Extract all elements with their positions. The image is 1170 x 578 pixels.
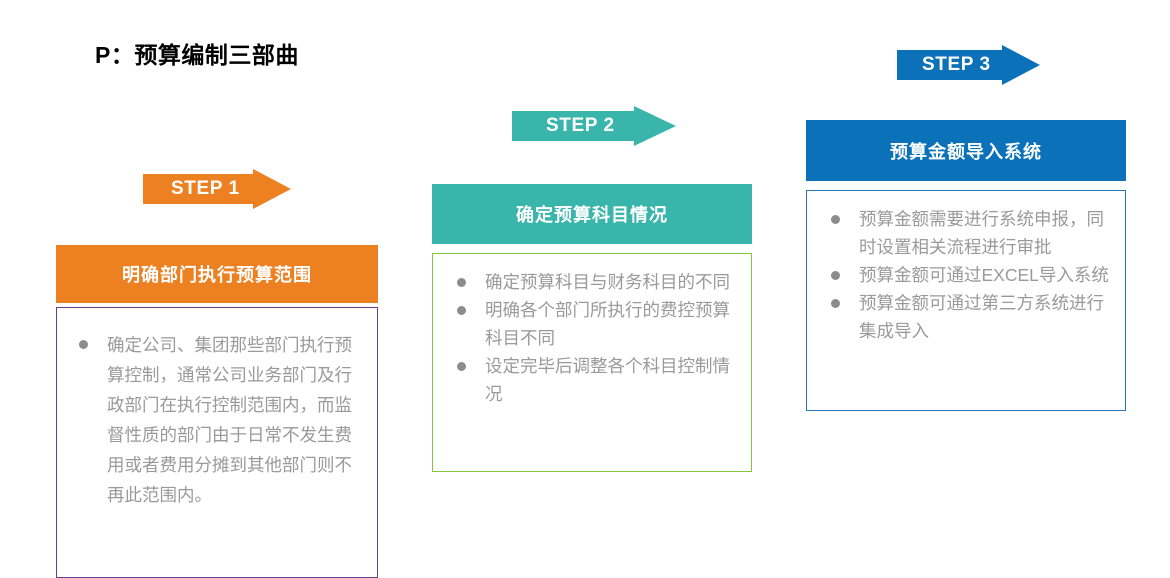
step-3-bullet-list: 预算金额需要进行系统申报，同时设置相关流程进行审批 预算金额可通过EXCEL导入… <box>807 191 1125 345</box>
bullet-dot-icon <box>457 278 466 287</box>
step-1-body: 确定公司、集团那些部门执行预算控制，通常公司业务部门及行政部门在执行控制范围内，… <box>56 307 378 578</box>
bullet-dot-icon <box>831 271 840 280</box>
list-item-text: 预算金额需要进行系统申报，同时设置相关流程进行审批 <box>859 205 1111 261</box>
list-item-text: 预算金额可通过第三方系统进行集成导入 <box>859 289 1111 345</box>
step-2-body: 确定预算科目与财务科目的不同 明确各个部门所执行的费控预算科目不同 设定完毕后调… <box>432 253 752 472</box>
slide-canvas: P：预算编制三部曲 STEP 1 明确部门执行预算范围 确定公司、集团那些部门执… <box>0 0 1170 561</box>
step-2-bullet-list: 确定预算科目与财务科目的不同 明确各个部门所执行的费控预算科目不同 设定完毕后调… <box>433 254 751 408</box>
list-item-text: 确定公司、集团那些部门执行预算控制，通常公司业务部门及行政部门在执行控制范围内，… <box>107 330 361 510</box>
list-item: 确定公司、集团那些部门执行预算控制，通常公司业务部门及行政部门在执行控制范围内，… <box>65 330 361 510</box>
step-1-arrow: STEP 1 <box>143 169 291 209</box>
list-item-text: 明确各个部门所执行的费控预算科目不同 <box>485 296 737 352</box>
arrow-right-icon <box>143 169 291 209</box>
bullet-dot-icon <box>457 306 466 315</box>
list-item: 设定完毕后调整各个科目控制情况 <box>443 352 737 408</box>
step-3-body: 预算金额需要进行系统申报，同时设置相关流程进行审批 预算金额可通过EXCEL导入… <box>806 190 1126 411</box>
list-item: 确定预算科目与财务科目的不同 <box>443 268 737 296</box>
list-item: 预算金额可通过第三方系统进行集成导入 <box>817 289 1111 345</box>
step-2-header: 确定预算科目情况 <box>432 184 752 244</box>
step-1-bullet-list: 确定公司、集团那些部门执行预算控制，通常公司业务部门及行政部门在执行控制范围内，… <box>57 308 377 510</box>
list-item: 预算金额需要进行系统申报，同时设置相关流程进行审批 <box>817 205 1111 261</box>
page-title: P：预算编制三部曲 <box>95 36 299 70</box>
step-1-header: 明确部门执行预算范围 <box>56 245 378 303</box>
list-item-text: 预算金额可通过EXCEL导入系统 <box>859 261 1111 289</box>
bullet-dot-icon <box>457 362 466 371</box>
bullet-dot-icon <box>831 215 840 224</box>
step-3-header: 预算金额导入系统 <box>806 120 1126 181</box>
list-item: 明确各个部门所执行的费控预算科目不同 <box>443 296 737 352</box>
list-item: 预算金额可通过EXCEL导入系统 <box>817 261 1111 289</box>
list-item-text: 设定完毕后调整各个科目控制情况 <box>485 352 737 408</box>
arrow-right-icon <box>512 106 676 146</box>
step-3-arrow: STEP 3 <box>897 45 1040 85</box>
list-item-text: 确定预算科目与财务科目的不同 <box>485 268 737 296</box>
step-2-arrow: STEP 2 <box>512 106 676 146</box>
bullet-dot-icon <box>831 299 840 308</box>
bullet-dot-icon <box>79 340 88 349</box>
arrow-right-icon <box>897 45 1040 85</box>
